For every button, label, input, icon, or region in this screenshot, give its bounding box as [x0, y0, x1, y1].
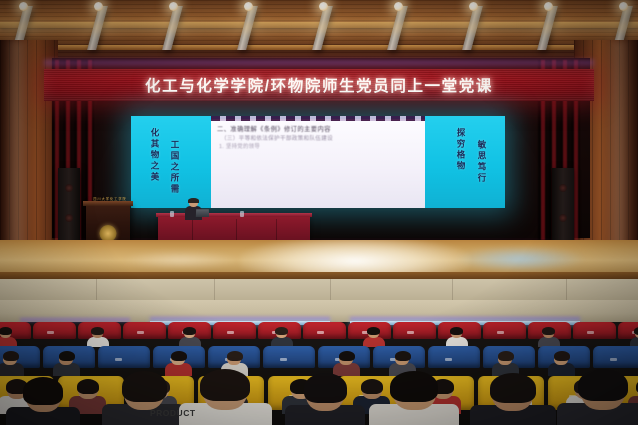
- audience-member-hair: [171, 351, 187, 361]
- banner-title: 化工与化学学院/环物院师生党员同上一堂党课: [145, 74, 493, 96]
- audience-member: [496, 352, 515, 374]
- audience-member-hair: [634, 327, 638, 335]
- seat: [483, 322, 526, 339]
- seat: [33, 322, 76, 339]
- laptop-device: [196, 209, 209, 217]
- seat: [593, 346, 638, 368]
- table-cup: [240, 211, 244, 217]
- audience-member-hair: [490, 373, 536, 403]
- speaker-cone-icon: [559, 214, 567, 222]
- table-bottle: [170, 211, 174, 217]
- ceiling-spotlight-icon: [169, 2, 178, 11]
- audience-member-hair: [275, 327, 288, 335]
- audience-member-hair: [23, 377, 63, 405]
- slide-top-bar: [211, 116, 425, 121]
- seat-number-tag: [227, 331, 234, 334]
- lecturer-hair: [188, 198, 199, 203]
- audience-member: [337, 352, 356, 374]
- audience-member-hair: [227, 351, 243, 361]
- ceiling-spotlight-icon: [619, 2, 628, 11]
- event-banner: 化工与化学学院/环物院师生党员同上一堂党课: [44, 69, 594, 101]
- audience-member-foreground: [196, 371, 254, 425]
- audience-member: [541, 328, 556, 346]
- seat: [303, 322, 346, 339]
- audience-member-hair: [339, 351, 355, 361]
- floor-reflection-blue: [455, 246, 585, 272]
- seat: [573, 322, 616, 339]
- audience-member: [0, 328, 13, 346]
- seat-number-tag: [317, 331, 324, 334]
- seat-number-tag: [137, 331, 144, 334]
- audience-member-hair: [367, 327, 380, 335]
- ceiling: [0, 0, 638, 62]
- seat: [123, 322, 166, 339]
- ceiling-spotlight-icon: [244, 2, 253, 11]
- audience-member-hair: [3, 351, 19, 361]
- audience-member-hair: [304, 373, 347, 403]
- floor-reflection-left: [120, 250, 240, 270]
- audience-member-hair: [395, 351, 411, 361]
- audience-member: [366, 328, 381, 346]
- table-top-edge: [156, 213, 312, 217]
- audience-member: [552, 352, 571, 374]
- slide-subline-2: 1. 坚持党的领导: [219, 142, 260, 150]
- speaker-cone-icon: [65, 184, 73, 192]
- seat: [393, 322, 436, 339]
- audience-member-hair: [361, 379, 383, 394]
- audience-member-hair: [554, 351, 570, 361]
- audience-member-hair: [183, 327, 196, 335]
- auditorium-photo: 化工与化学学院/环物院师生党员同上一堂党课 化其物之美 工国之所需 探穷格物 敏…: [0, 0, 638, 425]
- audience-member-hair: [578, 369, 628, 401]
- audience-member-foreground: [574, 371, 632, 425]
- seat-number-tag: [115, 358, 122, 361]
- audience-member-hair: [122, 371, 167, 402]
- seat-number-tag: [497, 331, 504, 334]
- audience-area: PRODUCT: [0, 300, 638, 425]
- audience-member-foreground: [300, 375, 350, 425]
- loudspeaker-left: [58, 168, 80, 240]
- ceiling-spotlight-icon: [319, 2, 328, 11]
- ceiling-spotlight-icon: [394, 2, 403, 11]
- audience-member-hair: [91, 327, 104, 335]
- seat-number-tag: [610, 358, 617, 361]
- ceiling-spotlight-icon: [544, 2, 553, 11]
- speaker-cone-icon: [559, 184, 567, 192]
- loudspeaker-right: [552, 168, 574, 240]
- seat-number-tag: [587, 331, 594, 334]
- audience-member-hair: [542, 327, 555, 335]
- seat: [263, 346, 315, 368]
- audience-member: [1, 352, 20, 374]
- audience-member-foreground: [486, 375, 540, 425]
- slide-subline-1: （三）平等和依法保护干部政策和队伍建设: [221, 134, 333, 142]
- screen-vertical-text-2: 工国之所需: [169, 140, 181, 195]
- screen-vertical-text-3: 探穷格物: [455, 128, 467, 172]
- audience-member-hair: [390, 371, 438, 402]
- audience-member: [274, 328, 289, 346]
- slide-heading: 二、准确理解《条例》修订的主要内容: [217, 124, 331, 133]
- audience-member-foreground: [386, 373, 442, 425]
- seat-number-tag: [47, 331, 54, 334]
- audience-member-hair: [450, 327, 463, 335]
- audience-member-foreground: [20, 379, 66, 425]
- audience-member: [169, 352, 188, 374]
- audience-member: [633, 328, 638, 346]
- projection-screen: 化其物之美 工国之所需 探穷格物 敏思笃行 二、准确理解《条例》修订的主要内容 …: [131, 116, 505, 208]
- jacket-print-text: PRODUCT: [150, 408, 196, 418]
- audience-member-hair: [498, 351, 514, 361]
- seat: [428, 346, 480, 368]
- speaker-cone-icon: [65, 214, 73, 222]
- audience-member: [90, 328, 105, 346]
- audience-member: [449, 328, 464, 346]
- screen-vertical-text-1: 化其物之美: [149, 128, 161, 183]
- seat: [98, 346, 150, 368]
- audience-member-hair: [59, 351, 75, 361]
- ceiling-spotlight-icon: [19, 2, 28, 11]
- screen-vertical-text-4: 敏思笃行: [476, 140, 488, 184]
- ceiling-spotlight-icon: [469, 2, 478, 11]
- ceiling-spotlight-icon: [94, 2, 103, 11]
- audience-member: [57, 352, 76, 374]
- audience-member-hair: [77, 379, 99, 394]
- audience-member-hair: [200, 369, 250, 401]
- seat: [213, 322, 256, 339]
- podium-top: [83, 201, 133, 206]
- audience-member: [75, 380, 101, 410]
- seat-number-tag: [445, 358, 452, 361]
- seat-number-tag: [407, 331, 414, 334]
- audience-member: [182, 328, 197, 346]
- seat-number-tag: [280, 358, 287, 361]
- audience-member-hair: [0, 327, 12, 335]
